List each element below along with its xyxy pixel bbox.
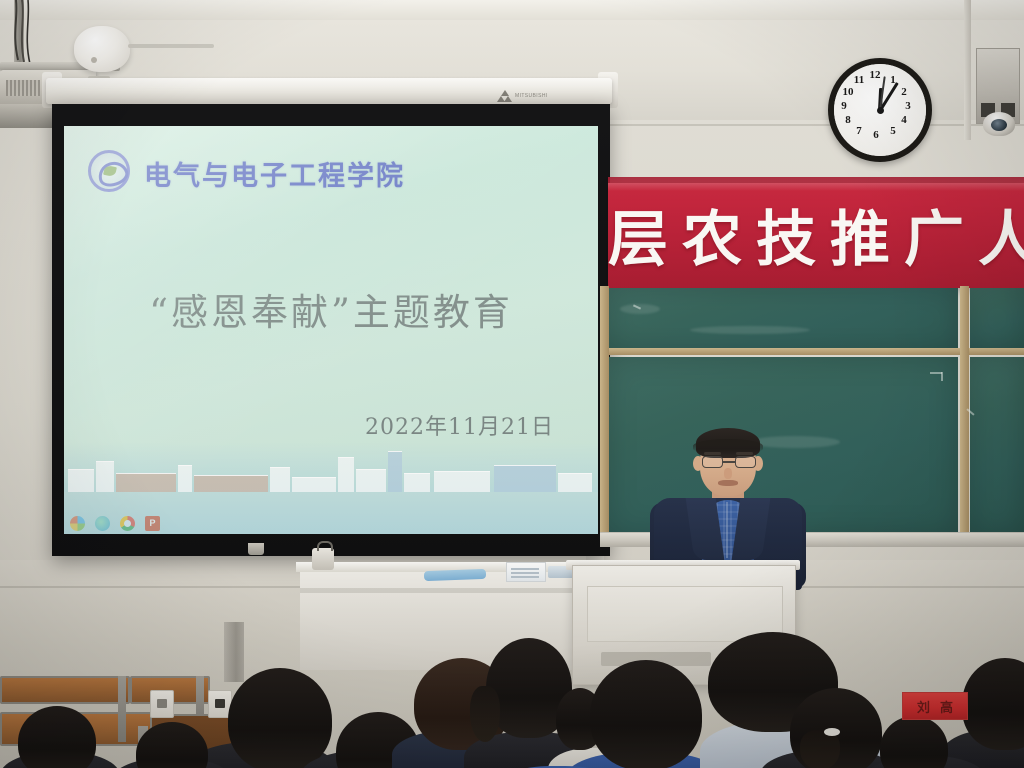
chrome-browser-icon[interactable] <box>120 516 135 531</box>
chalk-tray-hook <box>248 543 264 555</box>
dome-security-camera <box>983 112 1015 136</box>
red-banner: 层农技推广人 <box>608 183 1024 288</box>
windows-start-icon[interactable] <box>70 516 85 531</box>
clock-center-pin <box>877 107 884 114</box>
clock-numeral-6: 6 <box>869 129 883 141</box>
counter-edge <box>300 588 600 593</box>
clock-numeral-7: 7 <box>852 125 866 137</box>
chalkboard-panel-bottom-right <box>970 357 1024 534</box>
screen-brand-label: MITSUBISHI <box>515 93 548 99</box>
presenter-zipper <box>726 502 728 558</box>
slide-date: 2022年11月21日 <box>365 409 554 441</box>
chalkboard-divider-horizontal <box>606 348 960 355</box>
chalkboard-panel-top-left <box>608 288 958 350</box>
chalkboard-divider-horizontal-right <box>968 348 1024 355</box>
paper-sheet[interactable] <box>506 562 546 582</box>
edge-browser-icon[interactable] <box>95 516 110 531</box>
access-point-led <box>91 57 97 63</box>
clock-numeral-12: 12 <box>868 69 882 81</box>
wall-conduit <box>964 0 971 140</box>
placard-char-1: 刘 <box>917 697 930 716</box>
clock-numeral-11: 11 <box>852 74 866 86</box>
slide-organization-name: 电气与电子工程学院 <box>144 154 405 193</box>
projected-slide: 电气与电子工程学院 “感恩奉献”主题教育 2022年11月21日 <box>64 126 598 534</box>
clock-numeral-10: 10 <box>841 86 855 98</box>
university-emblem-icon <box>88 150 130 192</box>
chalkboard-panel-top-right <box>970 288 1024 350</box>
wall-clock: 12 1 2 3 4 5 6 7 8 9 10 11 <box>828 58 932 162</box>
mitsubishi-logo: MITSUBISHI <box>498 88 618 104</box>
presenter-nose <box>724 468 732 479</box>
chalkboard-edge-left <box>600 286 609 534</box>
projector-vent <box>6 80 40 96</box>
banner-text: 层农技推广人 <box>608 191 1024 278</box>
slide-title: “感恩奉献”主题教育 <box>64 282 598 336</box>
mitsubishi-diamonds-icon <box>498 90 511 102</box>
placard-char-2: 高 <box>940 697 953 716</box>
camera-lens <box>991 119 1007 131</box>
camera-device[interactable] <box>312 548 334 570</box>
lecture-hall-photo: 12 1 2 3 4 5 6 7 8 9 10 11 MITSUBISHI <box>0 0 1024 768</box>
clock-numeral-2: 2 <box>897 86 911 98</box>
presenter-brow-right <box>736 452 753 455</box>
clock-numeral-8: 8 <box>841 114 855 126</box>
projection-screen-frame: 电气与电子工程学院 “感恩奉献”主题教育 2022年11月21日 <box>52 104 610 556</box>
red-name-placard: 刘 高 <box>902 692 968 720</box>
presenter-brow-left <box>704 452 721 455</box>
ceiling-band <box>0 0 1024 20</box>
presenter-mouth <box>718 480 738 486</box>
powerpoint-icon[interactable]: P <box>145 516 160 531</box>
seated-students <box>0 600 1024 768</box>
eyeglasses-icon <box>702 456 756 468</box>
clock-numeral-5: 5 <box>886 125 900 137</box>
clock-numeral-9: 9 <box>837 100 851 112</box>
clock-numeral-3: 3 <box>901 100 915 112</box>
desktop-taskbar: P <box>64 512 250 534</box>
wifi-access-point <box>74 26 130 72</box>
access-point-cable <box>128 44 214 48</box>
